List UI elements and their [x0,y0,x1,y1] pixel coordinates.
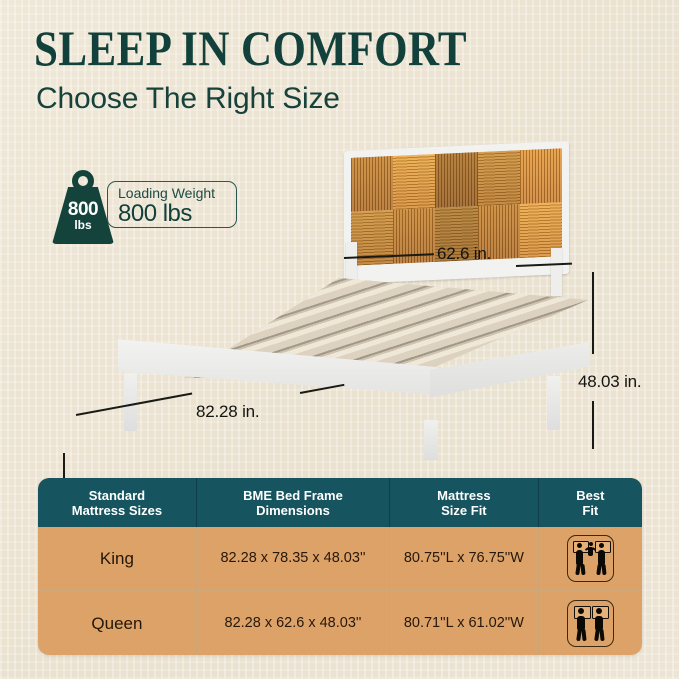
figure-leg [601,564,606,575]
two-adults-one-child-in-bed-icon [567,535,614,582]
dimension-line-headboard-height-bottom [592,401,594,449]
cell-best-fit [539,527,642,591]
figure-leg [581,628,586,640]
column-header-standard-mattress-sizes: Standard Mattress Sizes [38,478,197,527]
bed-leg-back-right [547,376,560,430]
column-header-line: Best [576,488,604,503]
wood-panel [393,154,435,210]
child-head [589,542,593,546]
cell-size: King [38,527,197,591]
cell-mattress-fit: 80.75''L x 76.75''W [390,527,539,591]
column-header-best-fit: Best Fit [539,478,642,527]
dimension-label-frame-length: 82.28 in. [196,402,259,422]
wood-panel [351,156,393,212]
mattress-size-table: Standard Mattress Sizes BME Bed Frame Di… [38,478,642,655]
cell-frame-dimensions: 82.28 x 62.6 x 48.03'' [197,591,390,655]
column-header-line: Fit [576,503,604,518]
bed-illustration: 62.6 in. 48.03 in. 82.28 in. 13.78 in. 7… [0,118,679,468]
column-header-line: Mattress Sizes [72,503,162,518]
cell-best-fit [539,591,642,655]
figure-head [577,543,582,548]
wood-panel [435,152,477,208]
dimension-label-headboard-height: 48.03 in. [578,372,641,392]
figure-leg [599,628,604,640]
table-header-row: Standard Mattress Sizes BME Bed Frame Di… [38,478,642,527]
dimension-label-headboard-width: 62.6 in. [437,244,491,264]
cell-frame-dimensions: 82.28 x 78.35 x 48.03'' [197,527,390,591]
headboard-post-right [551,248,562,296]
column-header-line: BME Bed Frame [243,488,343,503]
column-header-line: Size Fit [437,503,490,518]
column-header-bed-frame-dimensions: BME Bed Frame Dimensions [197,478,390,527]
column-header-line: Dimensions [243,503,343,518]
two-adults-in-bed-icon [567,600,614,647]
column-header-line: Standard [72,488,162,503]
infographic-canvas: SLEEP IN COMFORT Choose The Right Size 8… [0,0,679,679]
column-header-mattress-size-fit: Mattress Size Fit [390,478,539,527]
table-row: King 82.28 x 78.35 x 48.03'' 80.75''L x … [38,527,642,591]
bed-leg-front-right [424,420,438,460]
figure-head [599,543,604,548]
figure-leg [580,564,585,575]
cell-mattress-fit: 80.71''L x 61.02''W [390,591,539,655]
page-subtitle: Choose The Right Size [36,82,340,116]
wood-panel [478,150,520,206]
dimension-line-headboard-height-top [592,272,594,354]
column-header-line: Mattress [437,488,490,503]
figure-head [596,608,602,614]
figure-head [578,608,584,614]
wood-panel [520,148,562,204]
cell-size: Queen [38,591,197,655]
table-row: Queen 82.28 x 62.6 x 48.03'' 80.71''L x … [38,591,642,655]
page-title: SLEEP IN COMFORT [34,22,467,74]
